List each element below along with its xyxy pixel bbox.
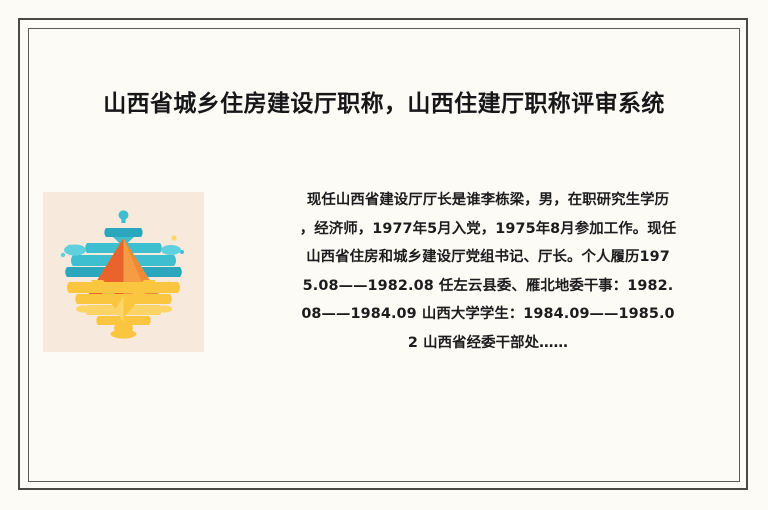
article-line: 2 山西省经委干部处……: [262, 329, 714, 358]
article-content: 现任山西省建设厅厅长是谁李栋梁，男，在职研究生学历 ，经济师，1977年5月入党…: [40, 186, 730, 386]
page-title: 山西省城乡住房建设厅职称，山西住建厅职称评审系统: [40, 87, 728, 121]
article-line: 5.08——1982.08 任左云县委、雁北地委干事：1982.: [262, 272, 714, 301]
article-illustration: [43, 192, 204, 352]
article-line: ，经济师，1977年5月入党，1975年8月参加工作。现任: [262, 215, 714, 244]
article-line: 山西省住房和城乡建设厅党组书记、厅长。个人履历197: [262, 243, 714, 272]
article-body-text: 现任山西省建设厅厅长是谁李栋梁，男，在职研究生学历 ，经济师，1977年5月入党…: [262, 186, 714, 357]
abstract-mountain-clouds-icon: [43, 192, 204, 352]
article-line: 08——1984.09 山西大学学生：1984.09——1985.0: [262, 300, 714, 329]
article-line: 现任山西省建设厅厅长是谁李栋梁，男，在职研究生学历: [262, 186, 714, 215]
article-page: 山西省城乡住房建设厅职称，山西住建厅职称评审系统: [0, 0, 768, 510]
